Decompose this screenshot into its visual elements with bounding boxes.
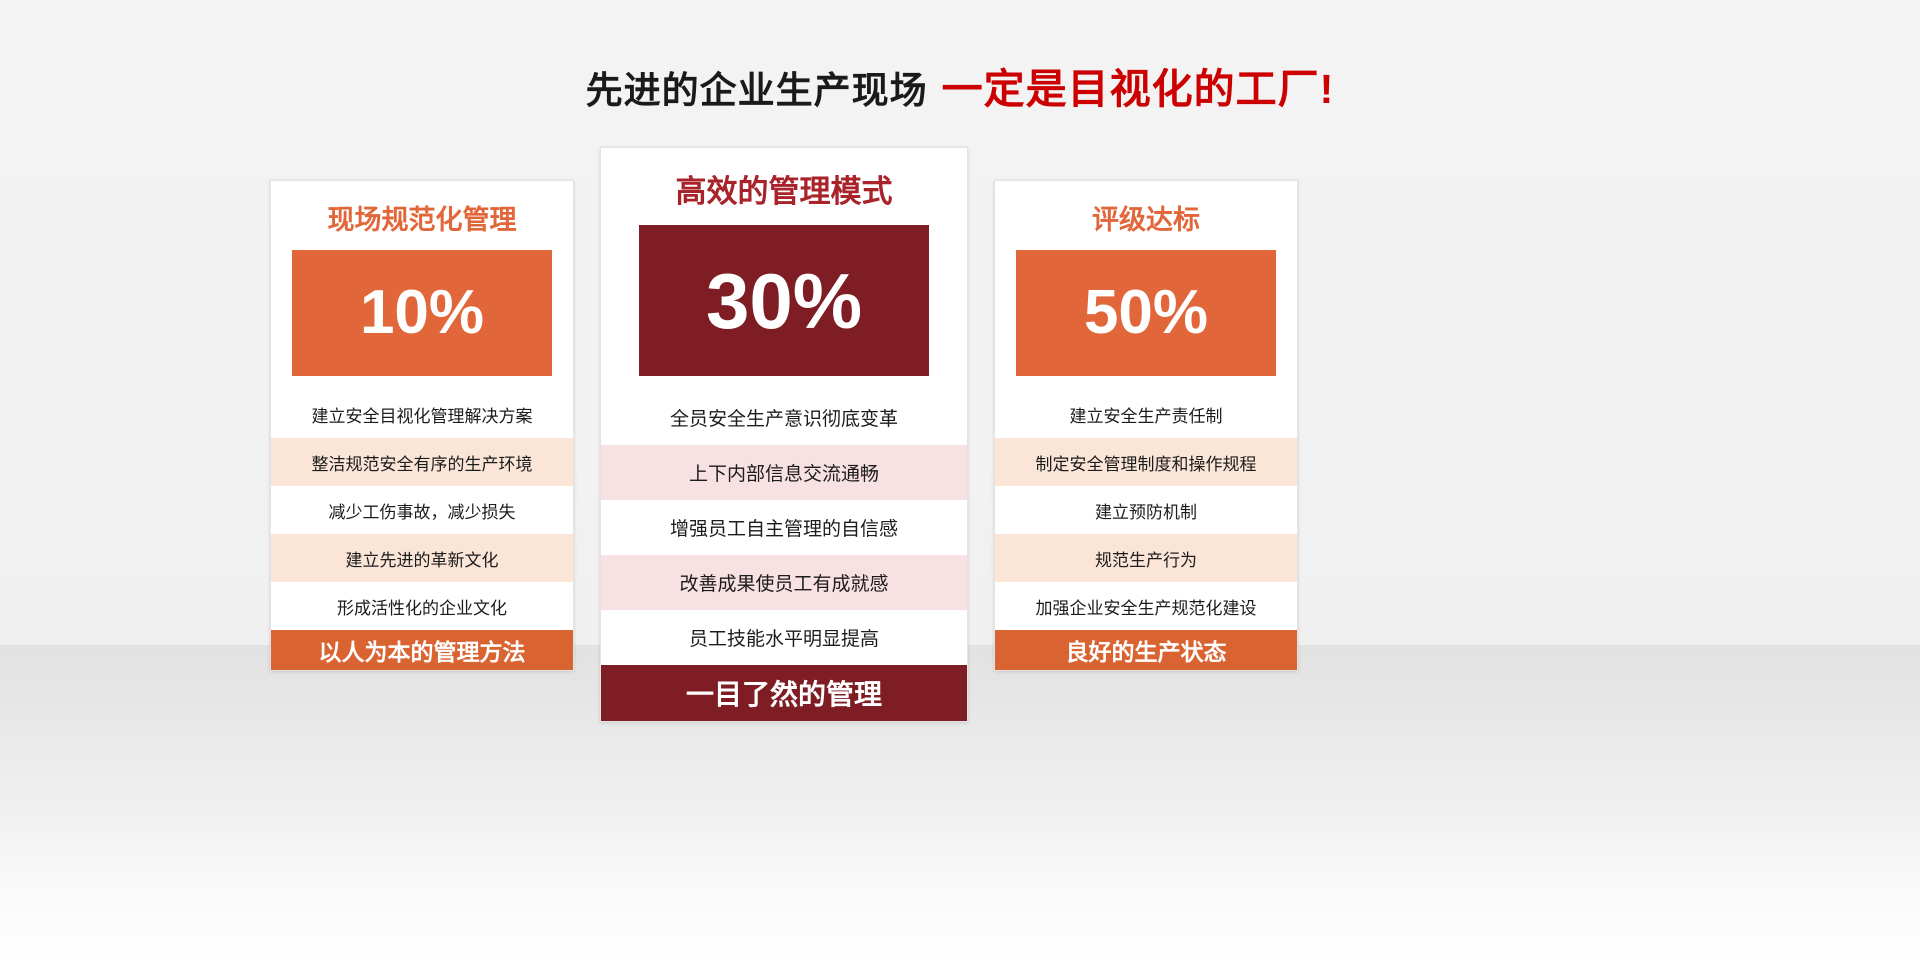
list-item[interactable]: 建立先进的革新文化 xyxy=(271,534,573,582)
card-1-title: 现场规范化管理 xyxy=(271,181,573,250)
card-1-benefit-list: 建立安全目视化管理解决方案 整洁规范安全有序的生产环境 减少工伤事故，减少损失 … xyxy=(271,390,573,630)
card-2-percent-block: 30% xyxy=(639,225,929,376)
list-item[interactable]: 增强员工自主管理的自信感 xyxy=(601,500,967,555)
list-item[interactable]: 整洁规范安全有序的生产环境 xyxy=(271,438,573,486)
list-item[interactable]: 建立预防机制 xyxy=(995,486,1297,534)
card-3-benefit-list: 建立安全生产责任制 制定安全管理制度和操作规程 建立预防机制 规范生产行为 加强… xyxy=(995,390,1297,630)
list-item[interactable]: 建立安全生产责任制 xyxy=(995,390,1297,438)
metric-card-1[interactable]: 现场规范化管理 10% 建立安全目视化管理解决方案 整洁规范安全有序的生产环境 … xyxy=(270,180,574,671)
card-2-banner: 一目了然的管理 xyxy=(601,665,967,721)
card-3-title: 评级达标 xyxy=(995,181,1297,250)
slide-stage: 先进的企业生产现场一定是目视化的工厂! 现场规范化管理 10% 建立安全目视化管… xyxy=(0,0,1920,962)
card-2-benefit-list: 全员安全生产意识彻底变革 上下内部信息交流通畅 增强员工自主管理的自信感 改善成… xyxy=(601,390,967,665)
metric-card-3[interactable]: 评级达标 50% 建立安全生产责任制 制定安全管理制度和操作规程 建立预防机制 … xyxy=(994,180,1298,671)
list-item[interactable]: 制定安全管理制度和操作规程 xyxy=(995,438,1297,486)
list-item[interactable]: 员工技能水平明显提高 xyxy=(601,610,967,665)
card-3-banner: 良好的生产状态 xyxy=(995,630,1297,670)
list-item[interactable]: 建立安全目视化管理解决方案 xyxy=(271,390,573,438)
list-item[interactable]: 形成活性化的企业文化 xyxy=(271,582,573,630)
page-title-accent: 一定是目视化的工厂! xyxy=(942,66,1335,112)
card-2-percent-value: 30% xyxy=(706,262,862,340)
card-2-title: 高效的管理模式 xyxy=(601,148,967,225)
card-3-percent-block: 50% xyxy=(1016,250,1276,376)
list-item[interactable]: 上下内部信息交流通畅 xyxy=(601,445,967,500)
list-item[interactable]: 减少工伤事故，减少损失 xyxy=(271,486,573,534)
list-item[interactable]: 加强企业安全生产规范化建设 xyxy=(995,582,1297,630)
list-item[interactable]: 改善成果使员工有成就感 xyxy=(601,555,967,610)
card-1-percent-value: 10% xyxy=(360,282,484,344)
list-item[interactable]: 规范生产行为 xyxy=(995,534,1297,582)
metric-card-2[interactable]: 高效的管理模式 30% 全员安全生产意识彻底变革 上下内部信息交流通畅 增强员工… xyxy=(600,147,968,722)
card-3-percent-value: 50% xyxy=(1084,282,1208,344)
card-1-banner: 以人为本的管理方法 xyxy=(271,630,573,670)
card-1-percent-block: 10% xyxy=(292,250,552,376)
page-title-primary: 先进的企业生产现场 xyxy=(586,70,928,111)
list-item[interactable]: 全员安全生产意识彻底变革 xyxy=(601,390,967,445)
page-title: 先进的企业生产现场一定是目视化的工厂! xyxy=(0,55,1920,115)
